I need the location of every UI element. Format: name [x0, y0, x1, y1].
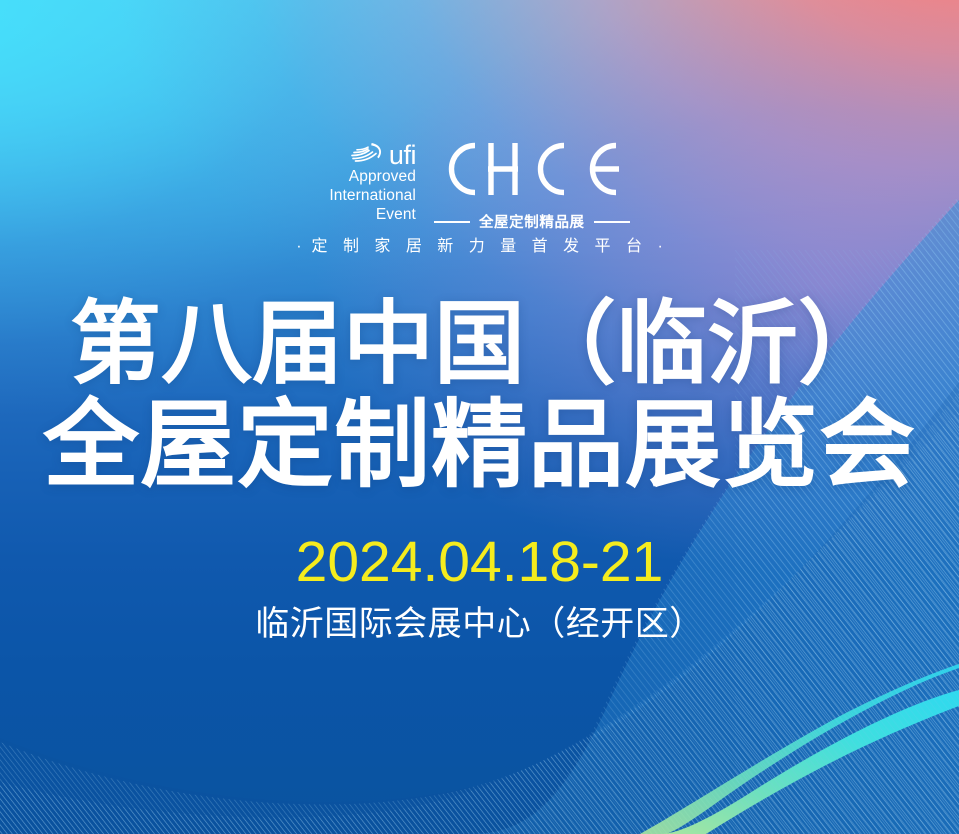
ufi-line-event: Event: [376, 206, 416, 225]
event-date: 2024.04.18-21: [0, 534, 959, 591]
logo-row: ufi Approved International Event: [0, 136, 959, 232]
poster-content: ufi Approved International Event: [0, 0, 959, 834]
tagline-dot-left: ·: [296, 238, 301, 255]
chce-subtitle-row: 全屋定制精品展: [434, 211, 630, 232]
chce-rule-right: [594, 221, 630, 223]
ufi-line-international: International: [329, 187, 416, 206]
page-title: 第八届中国（临沂） 全屋定制精品展览会: [0, 300, 959, 493]
chce-logo: 全屋定制精品展: [434, 136, 630, 232]
title-line-2: 全屋定制精品展览会: [0, 398, 959, 493]
tagline-text: 定 制 家 居 新 力 量 首 发 平 台: [312, 238, 648, 255]
chce-subtitle: 全屋定制精品展: [479, 211, 585, 232]
chce-rule-left: [434, 221, 470, 223]
tagline-dot-right: ·: [657, 238, 662, 255]
event-venue: 临沂国际会展中心（经开区）: [0, 604, 959, 645]
chce-wordmark-icon: [439, 136, 625, 207]
ufi-wordmark: ufi: [389, 142, 416, 169]
exhibition-poster: ufi Approved International Event: [0, 0, 959, 834]
ufi-swoosh-icon: [351, 140, 387, 168]
ufi-line-approved: Approved: [349, 168, 416, 187]
title-line-1: 第八届中国（临沂）: [0, 300, 959, 390]
tagline: · 定 制 家 居 新 力 量 首 发 平 台 ·: [0, 232, 959, 256]
ufi-wordmark-row: ufi: [351, 140, 416, 168]
ufi-logo: ufi Approved International Event: [329, 136, 416, 225]
